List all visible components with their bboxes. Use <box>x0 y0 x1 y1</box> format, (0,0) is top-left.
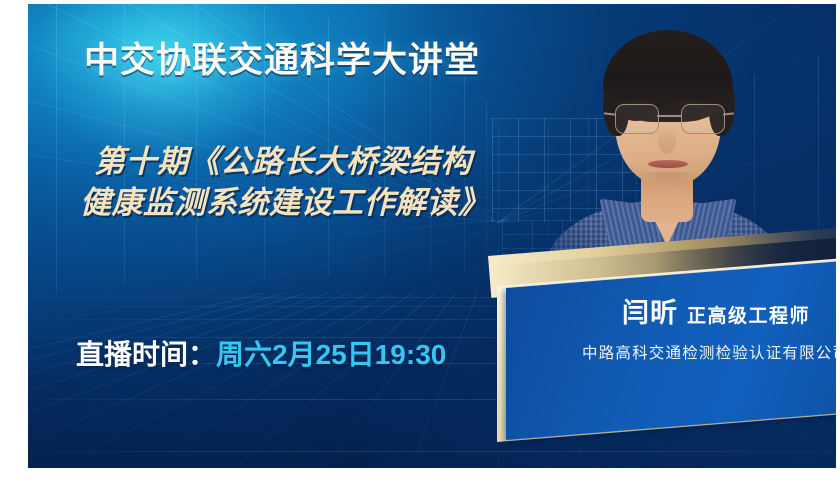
speaker-name: 闫昕 <box>622 291 678 330</box>
subtitle-line-1: 第十期《公路长大桥梁结构 <box>80 142 580 183</box>
live-time-value: 周六2月25日19:30 <box>216 339 446 370</box>
webinar-poster: 中交协联交通科学大讲堂 第十期《公路长大桥梁结构 健康监测系统建设工作解读》 直… <box>28 4 836 468</box>
speaker-title: 正高级工程师 <box>687 301 810 328</box>
glasses-bridge <box>657 115 681 117</box>
portrait-nose <box>658 126 676 154</box>
portrait-mouth <box>648 160 688 168</box>
poster-canvas: 中交协联交通科学大讲堂 第十期《公路长大桥梁结构 健康监测系统建设工作解读》 直… <box>0 0 840 480</box>
portrait-chin-shadow <box>633 172 703 186</box>
live-time-row: 直播时间：周六2月25日19:30 <box>76 333 446 373</box>
subtitle-line-2: 健康监测系统建设工作解读》 <box>80 183 580 224</box>
live-time-label: 直播时间： <box>76 339 216 370</box>
glasses-lens-left <box>615 104 659 134</box>
speaker-name-row: 闫昕 正高级工程师 <box>622 291 810 330</box>
speaker-organization: 中路高科交通检测检验认证有限公司 <box>582 341 836 363</box>
poster-headline: 中交协联交通科学大讲堂 <box>84 32 480 83</box>
poster-subtitle: 第十期《公路长大桥梁结构 健康监测系统建设工作解读》 <box>80 142 580 224</box>
glasses-lens-right <box>681 104 725 134</box>
